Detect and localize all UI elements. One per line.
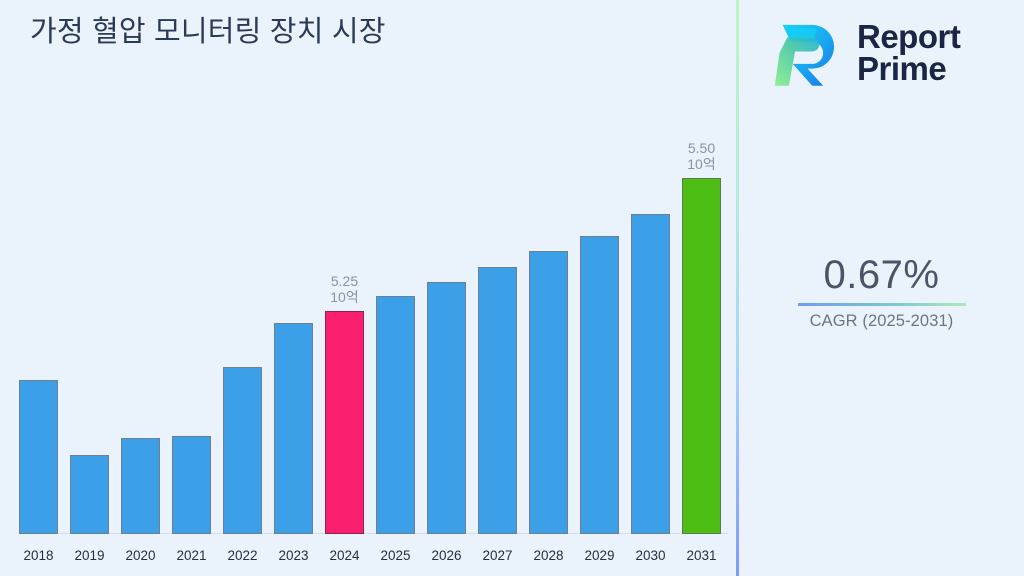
bar-chart-plot: 2018201920202021202220235.2510억202420252… [0, 0, 737, 576]
bar-group [376, 296, 415, 534]
x-axis-tick-2024: 2024 [325, 548, 364, 563]
bar-group [70, 455, 109, 534]
bar-2031[interactable] [682, 178, 721, 534]
bar-2027[interactable] [478, 267, 517, 534]
x-axis-tick-2020: 2020 [121, 548, 160, 563]
bar-group [121, 438, 160, 534]
bar-2030[interactable] [631, 214, 670, 534]
x-axis-tick-2031: 2031 [682, 548, 721, 563]
bar-2020[interactable] [121, 438, 160, 534]
x-axis-tick-2019: 2019 [70, 548, 109, 563]
bar-2018[interactable] [19, 380, 58, 534]
bar-2019[interactable] [70, 455, 109, 534]
bar-value-number: 5.25 [330, 273, 358, 289]
brand-logo[interactable]: Report Prime [767, 14, 960, 92]
bar-group: 5.5010억 [682, 178, 721, 534]
bar-group [631, 214, 670, 534]
x-axis-tick-2027: 2027 [478, 548, 517, 563]
bar-group [580, 236, 619, 534]
brand-name: Report Prime [857, 21, 960, 85]
bar-group [172, 436, 211, 534]
chart-panel: 가정 혈압 모니터링 장치 시장 20182019202020212022202… [0, 0, 737, 576]
bar-group [478, 267, 517, 534]
brand-name-line1: Report [857, 21, 960, 53]
bar-value-unit: 10억 [687, 156, 715, 172]
bar-value-number: 5.50 [687, 140, 715, 156]
bar-group: 5.2510억 [325, 311, 364, 534]
x-axis-tick-2023: 2023 [274, 548, 313, 563]
x-axis-tick-2025: 2025 [376, 548, 415, 563]
bar-value-label-2024: 5.2510억 [330, 273, 358, 305]
brand-name-line2: Prime [857, 53, 960, 85]
x-axis-tick-2026: 2026 [427, 548, 466, 563]
bar-group [274, 323, 313, 534]
bar-value-unit: 10억 [330, 289, 358, 305]
bar-2026[interactable] [427, 282, 466, 534]
cagr-value: 0.67% [739, 252, 1024, 298]
report-prime-r-logo-icon [767, 14, 845, 92]
cagr-block: 0.67% CAGR (2025-2031) [739, 252, 1024, 331]
cagr-divider-rule [798, 303, 966, 306]
bar-2024[interactable] [325, 311, 364, 534]
bar-2029[interactable] [580, 236, 619, 534]
cagr-caption: CAGR (2025-2031) [739, 312, 1024, 331]
bar-2028[interactable] [529, 251, 568, 534]
bar-2025[interactable] [376, 296, 415, 534]
x-axis-tick-2022: 2022 [223, 548, 262, 563]
x-axis-tick-2028: 2028 [529, 548, 568, 563]
bar-group [19, 380, 58, 534]
chart-screenshot: 가정 혈압 모니터링 장치 시장 20182019202020212022202… [0, 0, 1024, 576]
x-axis-tick-2018: 2018 [19, 548, 58, 563]
bar-group [529, 251, 568, 534]
x-axis-tick-2030: 2030 [631, 548, 670, 563]
bar-group [223, 367, 262, 534]
bar-2022[interactable] [223, 367, 262, 534]
bar-value-label-2031: 5.5010억 [687, 140, 715, 172]
x-axis-tick-2029: 2029 [580, 548, 619, 563]
bar-group [427, 282, 466, 534]
bar-2021[interactable] [172, 436, 211, 534]
x-axis-tick-2021: 2021 [172, 548, 211, 563]
brand-panel: Report Prime 0.67% CAGR (2025-2031) [739, 0, 1024, 576]
bar-2023[interactable] [274, 323, 313, 534]
